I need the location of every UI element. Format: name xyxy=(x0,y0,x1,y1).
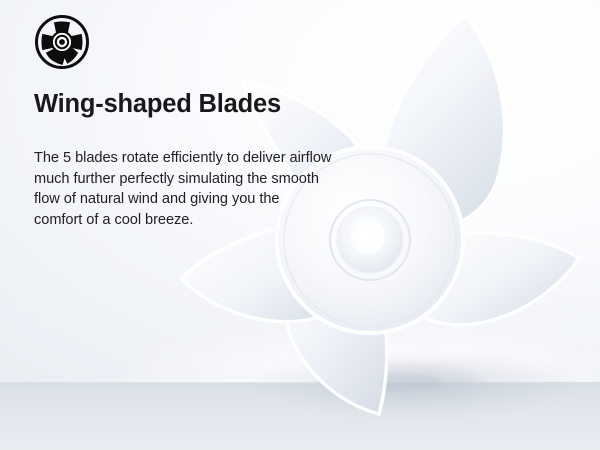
page-title: Wing-shaped Blades xyxy=(34,90,386,119)
description-line: The 5 blades rotate efficiently to deliv… xyxy=(34,148,380,169)
description-line: comfort of a cool breeze. xyxy=(34,210,380,231)
content-column: Wing-shaped Blades The 5 blades rotate e… xyxy=(34,0,386,450)
product-feature-banner: Wing-shaped Blades The 5 blades rotate e… xyxy=(0,0,600,450)
description-line: flow of natural wind and giving you the xyxy=(34,189,380,210)
description-line: much further perfectly simulating the sm… xyxy=(34,169,380,190)
fan-blade-icon xyxy=(34,14,90,70)
feature-description: The 5 blades rotate efficiently to deliv… xyxy=(34,148,380,230)
